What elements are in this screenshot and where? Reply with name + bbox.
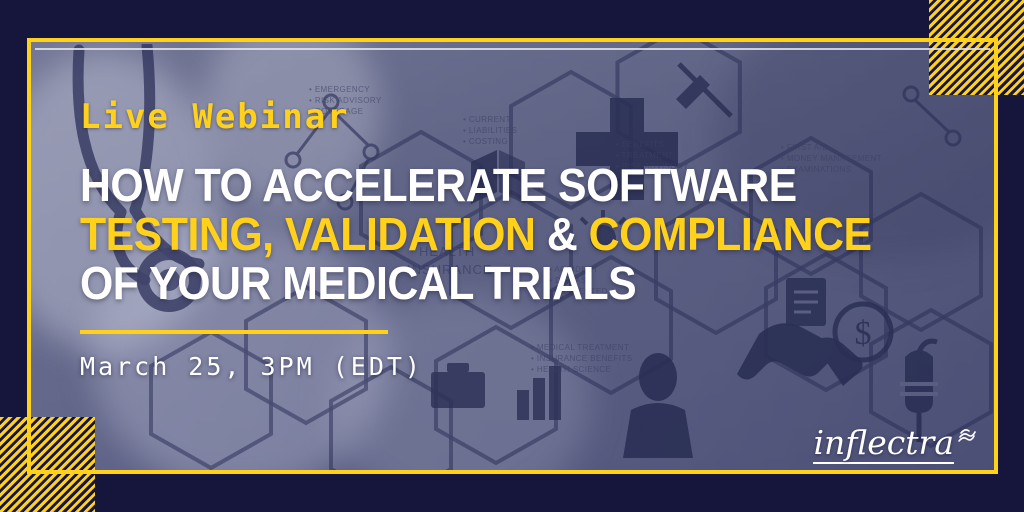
headline-line-2-part-3: COMPLIANCE [589,208,872,260]
headline-space-2 [577,208,588,260]
webinar-banner: $ [0,0,1024,512]
page-title: HOW TO ACCELERATE SOFTWARE TESTING, VALI… [80,161,898,308]
headline-line-2: TESTING, VALIDATION & COMPLIANCE [80,210,898,259]
headline-line-2-ampersand [535,208,546,260]
headline-ampersand: & [547,208,577,260]
yellow-divider [80,330,388,334]
webinar-datetime: March 25, 3PM (EDT) [80,352,960,381]
headline-line-3: OF YOUR MEDICAL TRIALS [80,259,898,308]
logo-wordmark: inflectra [813,426,954,464]
headline-line-2-part-1: TESTING, VALIDATION [80,208,535,260]
headline-line-1: HOW TO ACCELERATE SOFTWARE [80,161,898,210]
eyebrow-label: Live Webinar [80,95,960,139]
stripe-decoration-bottom-left [0,417,95,512]
content-block: Live Webinar HOW TO ACCELERATE SOFTWARE … [80,95,960,381]
frame-accent-line [35,48,990,50]
inflectra-wave-icon [956,428,976,446]
inflectra-logo[interactable]: inflectra [813,426,976,464]
